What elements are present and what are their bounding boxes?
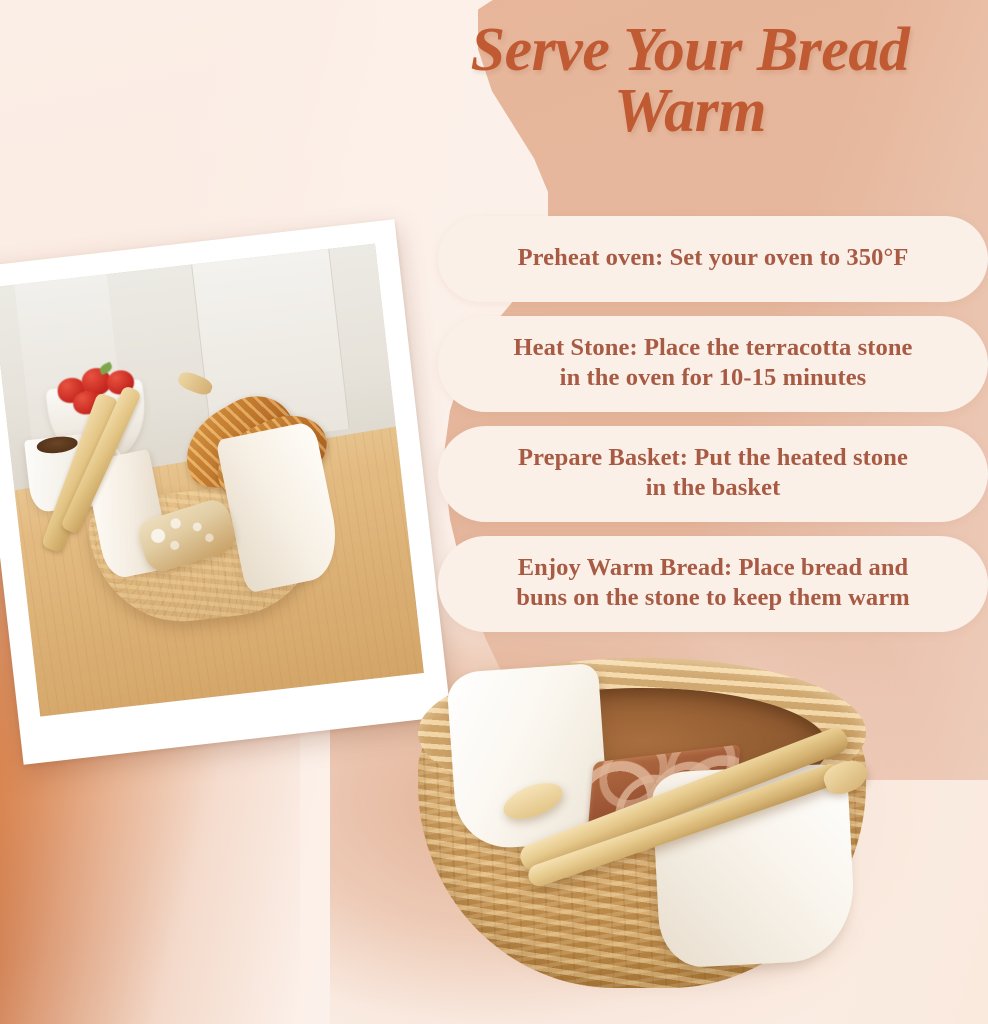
step-line: in the oven for 10-15 minutes bbox=[560, 364, 867, 391]
page-title: Serve Your Bread Warm bbox=[392, 20, 988, 142]
step-item-heat-stone: Heat Stone: Place the terracotta stone i… bbox=[438, 316, 988, 412]
step-line: buns on the stone to keep them warm bbox=[516, 584, 909, 611]
step-line: Heat Stone: Place the terracotta stone bbox=[513, 334, 912, 361]
step-item-preheat-oven: Preheat oven: Set your oven to 350°F bbox=[438, 216, 988, 302]
step-line: Preheat oven: Set your oven to 350°F bbox=[518, 244, 909, 271]
page-title-line-1: Serve Your Bread bbox=[471, 16, 910, 84]
step-item-enjoy-warm-bread: Enjoy Warm Bread: Place bread and buns o… bbox=[438, 536, 988, 632]
infographic-canvas: Serve Your Bread Warm Preheat oven: Set … bbox=[0, 0, 988, 1024]
step-text: Heat Stone: Place the terracotta stone i… bbox=[513, 333, 912, 393]
steps-list: Preheat oven: Set your oven to 350°F Hea… bbox=[438, 216, 988, 646]
step-text: Enjoy Warm Bread: Place bread and buns o… bbox=[516, 553, 909, 613]
step-item-prepare-basket: Prepare Basket: Put the heated stone in … bbox=[438, 426, 988, 522]
lifestyle-photo-bread-basket bbox=[0, 244, 424, 717]
product-hero-image bbox=[404, 636, 964, 1024]
step-text: Prepare Basket: Put the heated stone in … bbox=[518, 443, 908, 503]
polaroid-photo-frame bbox=[0, 219, 451, 764]
step-line: in the basket bbox=[646, 474, 781, 501]
page-title-line-2: Warm bbox=[614, 77, 766, 145]
step-line: Prepare Basket: Put the heated stone bbox=[518, 444, 908, 471]
step-line: Enjoy Warm Bread: Place bread and bbox=[518, 554, 909, 581]
step-text: Preheat oven: Set your oven to 350°F bbox=[518, 243, 909, 273]
